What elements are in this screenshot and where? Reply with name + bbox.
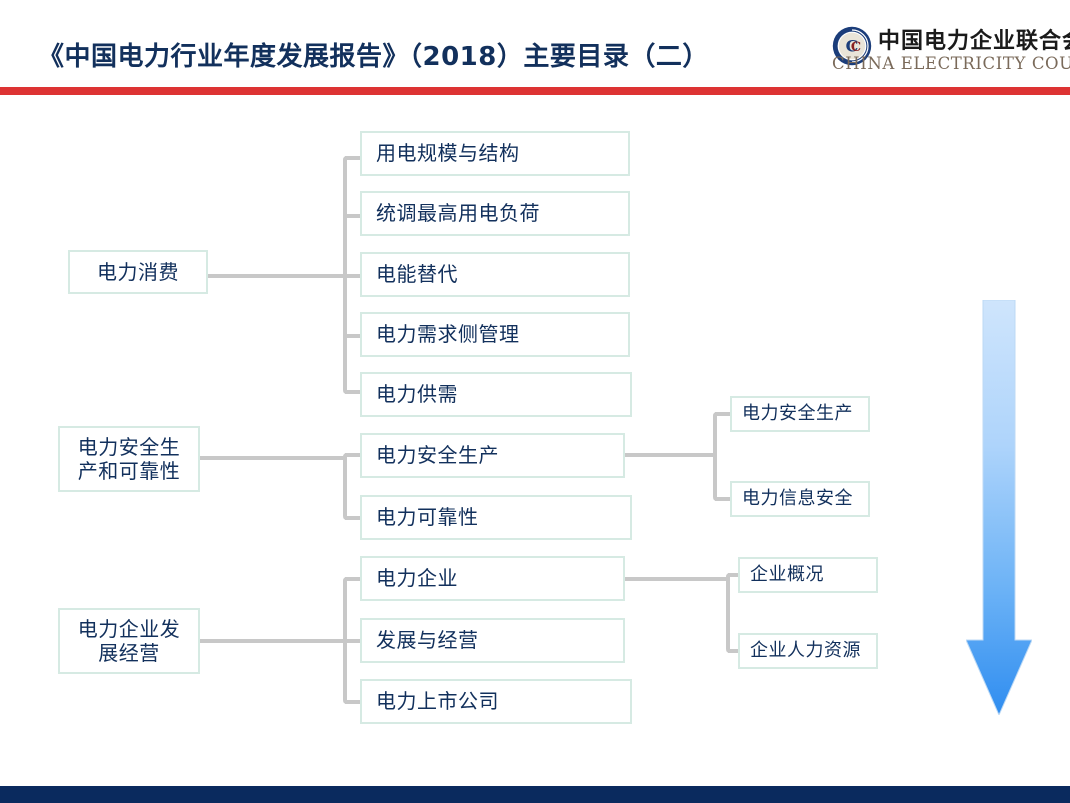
node-level2-enterprise-0[interactable]: 电力企业 bbox=[360, 556, 625, 601]
header-red-rule bbox=[0, 87, 1070, 95]
organization-logo: C C 中国电力企业联合会 CHINA ELECTRICITY COUNCIL bbox=[832, 22, 1062, 84]
node-label: 电力企业发 展经营 bbox=[78, 617, 181, 666]
node-level3-safety-0[interactable]: 电力安全生产 bbox=[730, 396, 870, 432]
node-label: 电力安全生产 bbox=[376, 443, 499, 467]
node-level1-safety[interactable]: 电力安全生 产和可靠性 bbox=[58, 426, 200, 492]
node-level2-consumption-0[interactable]: 用电规模与结构 bbox=[360, 131, 630, 176]
node-label: 电力供需 bbox=[376, 382, 458, 406]
node-label: 电力可靠性 bbox=[376, 505, 479, 529]
node-label: 电能替代 bbox=[376, 262, 458, 286]
node-level2-safety-0[interactable]: 电力安全生产 bbox=[360, 433, 625, 478]
node-level3-enterprise-0[interactable]: 企业概况 bbox=[738, 557, 878, 593]
node-level2-enterprise-2[interactable]: 电力上市公司 bbox=[360, 679, 632, 724]
node-label: 电力信息安全 bbox=[742, 488, 853, 510]
slide-header: 《中国电力行业年度发展报告》（2018）主要目录（二） C C 中国电力企业联合… bbox=[0, 0, 1070, 87]
node-label: 企业人力资源 bbox=[750, 640, 861, 662]
logo-chinese-name: 中国电力企业联合会 bbox=[878, 23, 1070, 55]
node-label: 电力消费 bbox=[97, 260, 179, 284]
content-diagram: 电力消费 电力安全生 产和可靠性 电力企业发 展经营 用电规模与结构 统调最高用… bbox=[0, 95, 1070, 786]
node-label: 统调最高用电负荷 bbox=[376, 201, 540, 225]
node-level3-safety-1[interactable]: 电力信息安全 bbox=[730, 481, 870, 517]
node-level2-consumption-1[interactable]: 统调最高用电负荷 bbox=[360, 191, 630, 236]
node-label: 发展与经营 bbox=[376, 628, 479, 652]
slide-root: 《中国电力行业年度发展报告》（2018）主要目录（二） C C 中国电力企业联合… bbox=[0, 0, 1070, 803]
node-label: 电力上市公司 bbox=[376, 689, 499, 713]
footer-bar bbox=[0, 786, 1070, 803]
node-level1-enterprise[interactable]: 电力企业发 展经营 bbox=[58, 608, 200, 674]
node-level2-consumption-4[interactable]: 电力供需 bbox=[360, 372, 632, 417]
svg-text:C: C bbox=[851, 40, 861, 55]
down-arrow-icon bbox=[966, 300, 1032, 715]
node-label: 电力需求侧管理 bbox=[376, 322, 520, 346]
node-label: 电力企业 bbox=[376, 566, 458, 590]
node-label: 电力安全生 产和可靠性 bbox=[78, 435, 181, 484]
node-level1-consumption[interactable]: 电力消费 bbox=[68, 250, 208, 294]
node-level3-enterprise-1[interactable]: 企业人力资源 bbox=[738, 633, 878, 669]
node-level2-safety-1[interactable]: 电力可靠性 bbox=[360, 495, 632, 540]
node-level2-enterprise-1[interactable]: 发展与经营 bbox=[360, 618, 625, 663]
node-label: 企业概况 bbox=[750, 564, 824, 586]
node-label: 电力安全生产 bbox=[742, 403, 853, 425]
node-label: 用电规模与结构 bbox=[376, 141, 520, 165]
logo-english-name: CHINA ELECTRICITY COUNCIL bbox=[832, 54, 1070, 73]
node-level2-consumption-2[interactable]: 电能替代 bbox=[360, 252, 630, 297]
node-level2-consumption-3[interactable]: 电力需求侧管理 bbox=[360, 312, 630, 357]
page-title: 《中国电力行业年度发展报告》（2018）主要目录（二） bbox=[38, 36, 709, 73]
